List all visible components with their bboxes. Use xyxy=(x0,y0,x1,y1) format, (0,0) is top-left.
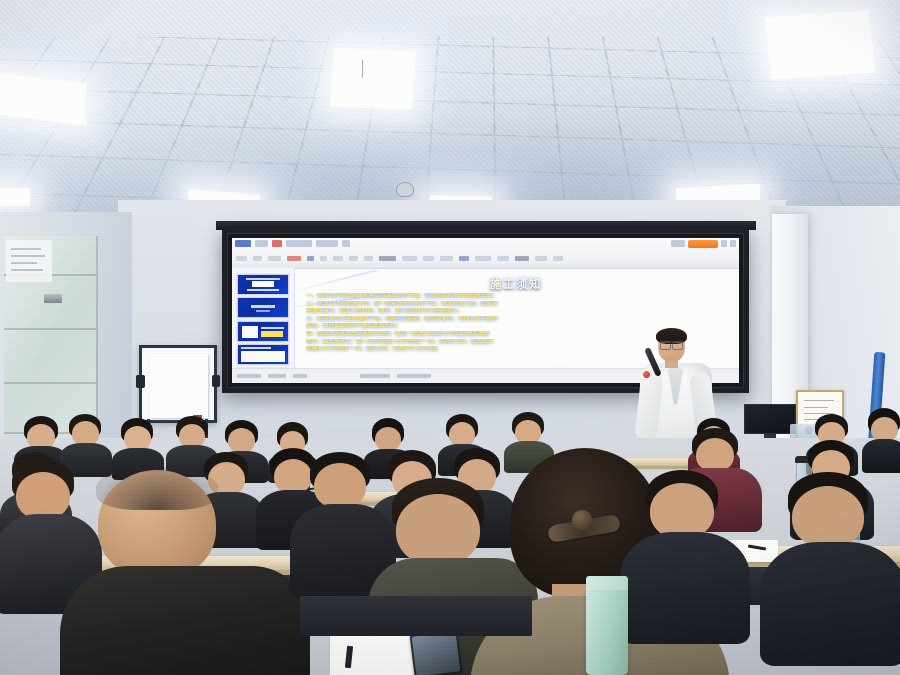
person-head xyxy=(314,463,366,509)
person-torso xyxy=(760,542,900,666)
tool-align-left[interactable] xyxy=(349,256,358,261)
wall-notice-sheet xyxy=(6,240,52,282)
bottle-cap xyxy=(586,576,628,590)
tool-font-color[interactable] xyxy=(287,256,301,261)
tool-quick-styles[interactable] xyxy=(475,256,491,261)
tool-numbering[interactable] xyxy=(402,256,417,261)
status-zoom-slider[interactable] xyxy=(397,374,431,378)
ribbon-tab-transitions[interactable] xyxy=(316,240,338,247)
ribbon-tab-strip[interactable] xyxy=(235,240,350,247)
person-torso xyxy=(60,566,310,675)
ribbon-minimize-icon[interactable] xyxy=(721,240,727,247)
ribbon-tab-animations[interactable] xyxy=(342,240,350,247)
door-handle-icon[interactable] xyxy=(44,294,62,303)
tool-underline[interactable] xyxy=(333,256,343,261)
flipchart-paper xyxy=(150,354,208,418)
slide-title: 施工须知 xyxy=(296,276,736,292)
person-torso xyxy=(620,532,750,644)
tool-bullets[interactable] xyxy=(379,256,396,261)
microphone-tip-icon xyxy=(643,371,650,378)
slide-line: 二、液体SBS卷材施工时，第一层需等待完全实干后，再涂刷第二层。如果采 xyxy=(306,301,728,309)
audience-member xyxy=(760,472,900,662)
easel-clip-right xyxy=(212,375,220,387)
slide-line: 一、液体SBS卷材施工前需保持基面绝对干燥，否则后期容易出现起鼓现象； xyxy=(306,293,728,301)
slide-thumbnail-pane[interactable] xyxy=(232,268,295,369)
person-hair xyxy=(96,466,218,510)
audience-member xyxy=(620,470,750,640)
seminar-room-photo: 施工须知 一、液体SBS卷材施工前需保持基面绝对干燥，否则后期容易出现起鼓现象；… xyxy=(0,0,900,675)
person-head xyxy=(792,486,864,548)
slide-thumb-1[interactable] xyxy=(237,274,289,295)
ceiling-light-panel xyxy=(765,10,876,79)
tool-format-painter[interactable] xyxy=(268,256,281,261)
hair-clip-bead xyxy=(572,510,592,530)
status-notes-button[interactable] xyxy=(293,374,307,378)
ribbon-right-group[interactable] xyxy=(671,240,736,248)
tool-italic[interactable] xyxy=(320,256,327,261)
tool-arrange[interactable] xyxy=(459,256,469,261)
person-head xyxy=(396,494,480,566)
tool-shapes[interactable] xyxy=(440,256,453,261)
tool-shape-fill[interactable] xyxy=(497,256,509,261)
tool-cut[interactable] xyxy=(253,256,262,261)
person-head xyxy=(228,428,255,453)
slide-thumb-2[interactable] xyxy=(237,297,289,318)
ceiling-light-panel xyxy=(330,49,416,110)
slide-thumb-3[interactable] xyxy=(237,321,289,342)
person-head xyxy=(650,483,714,539)
tool-line-spacing[interactable] xyxy=(423,256,434,261)
status-language[interactable] xyxy=(268,374,286,378)
ceiling-hanger xyxy=(362,60,363,78)
tool-replace[interactable] xyxy=(535,256,547,261)
ribbon-tab-home[interactable] xyxy=(255,240,268,247)
ribbon-tab-design[interactable] xyxy=(286,240,312,247)
ribbon-user-chip[interactable] xyxy=(671,240,685,247)
slide-thumb-4[interactable] xyxy=(237,344,289,365)
upgrade-membership-button[interactable] xyxy=(688,240,718,248)
whiteboard-surface[interactable] xyxy=(139,345,217,423)
glasses-icon xyxy=(660,341,683,348)
ceiling-light-panel xyxy=(0,188,30,206)
tool-bold[interactable] xyxy=(307,256,314,261)
ribbon-close-icon[interactable] xyxy=(730,240,736,247)
status-slide-indicator xyxy=(237,374,261,378)
tool-find[interactable] xyxy=(515,256,529,261)
tool-select[interactable] xyxy=(553,256,563,261)
person-head xyxy=(375,427,401,451)
ribbon-tab-insert[interactable] xyxy=(272,240,282,247)
easel-clip-left xyxy=(136,375,145,388)
audience-member-foreground xyxy=(60,470,310,675)
tool-paste[interactable] xyxy=(236,256,247,261)
desk-modesty-panel xyxy=(300,596,532,636)
tool-align-center[interactable] xyxy=(364,256,373,261)
ribbon-command-group[interactable] xyxy=(236,250,735,267)
water-bottle-mint xyxy=(586,586,628,675)
slide-line: 三、若液体SBS卷材操作不当，后期出现起鼓、脱层现象时，可除去有问题的 xyxy=(306,316,728,324)
ribbon-toolbar[interactable] xyxy=(232,238,739,269)
status-view-normal-icon[interactable] xyxy=(360,374,390,378)
ribbon-tab-file[interactable] xyxy=(235,240,251,247)
smartphone[interactable] xyxy=(409,629,462,675)
slide-line: 用铺布操作，则第二层材料、铺布、第三层材料可以连续施工。 xyxy=(306,308,728,316)
smoke-detector-icon xyxy=(396,182,414,197)
